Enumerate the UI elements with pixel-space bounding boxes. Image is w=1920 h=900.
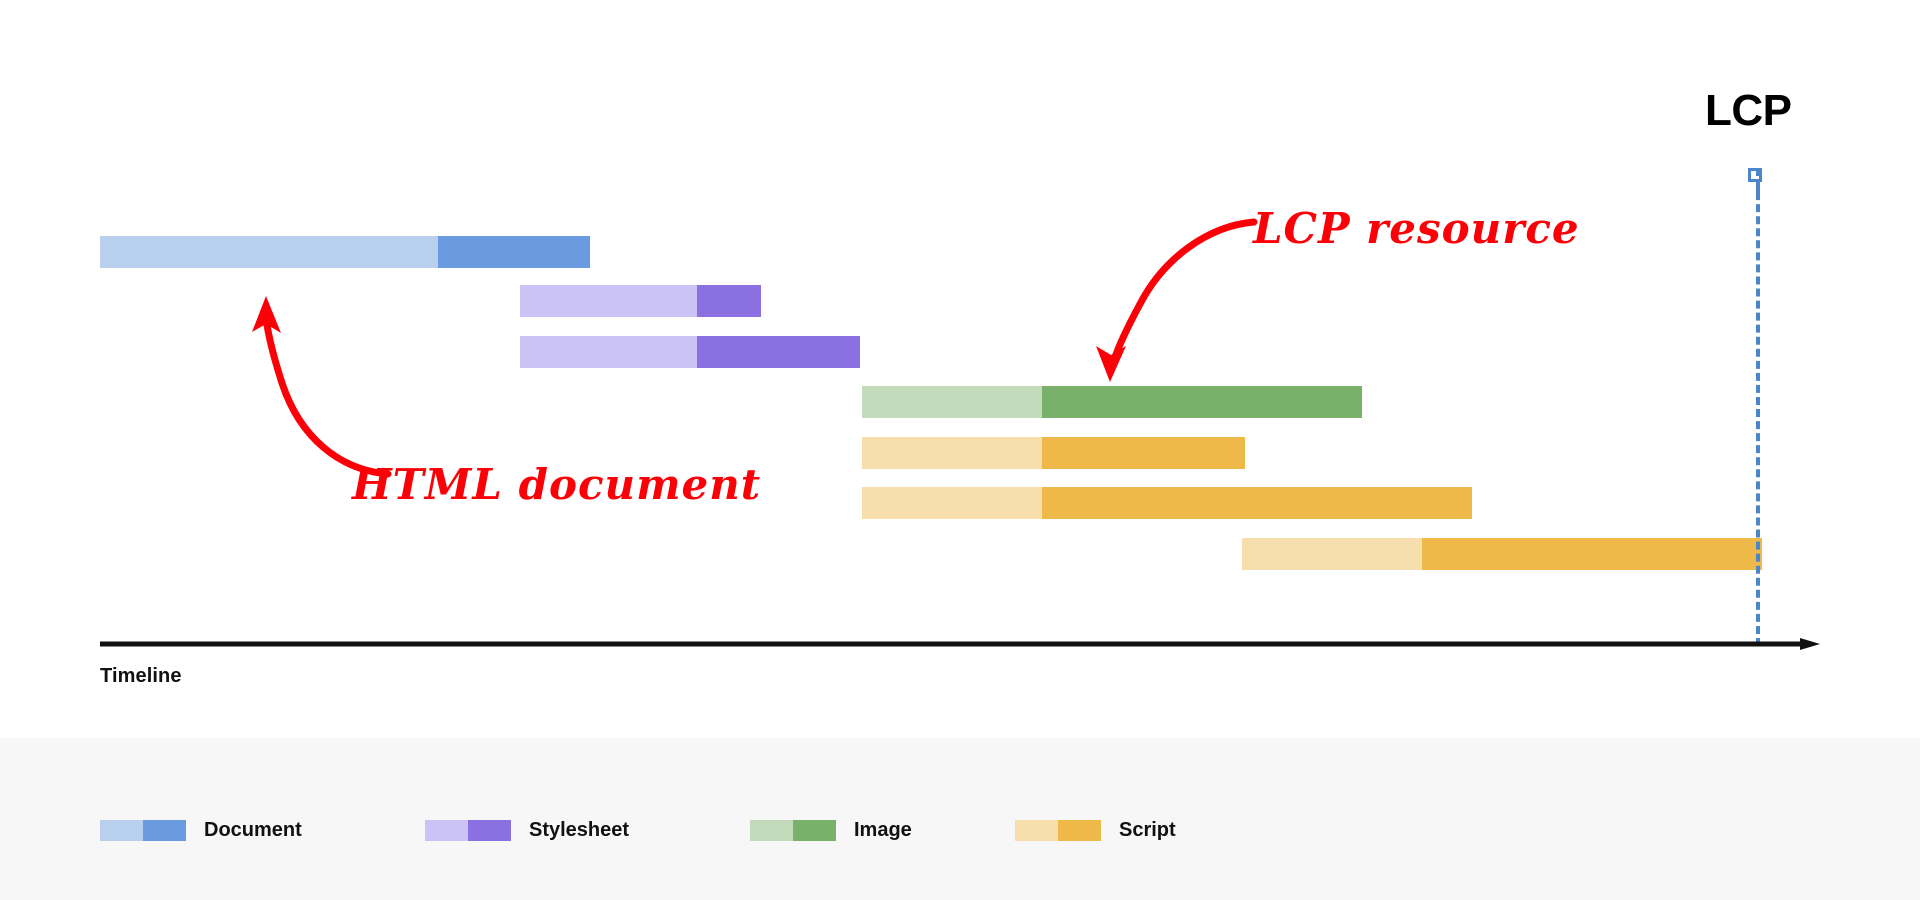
timeline-axis: [100, 638, 1820, 650]
legend-swatch-stylesheet: [425, 820, 511, 841]
stylesheet-bar-2[interactable]: [520, 336, 860, 368]
document-bar[interactable]: [100, 236, 590, 268]
script-bar-1-wait-segment: [862, 437, 1042, 469]
legend-item-stylesheet[interactable]: Stylesheet: [425, 818, 629, 842]
legend-swatch-dark: [793, 820, 836, 841]
image-bar[interactable]: [862, 386, 1362, 418]
legend-item-script[interactable]: Script: [1015, 818, 1176, 842]
legend-label: Script: [1119, 819, 1176, 842]
script-bar-3-wait-segment: [1242, 538, 1422, 570]
legend-swatch-document: [100, 820, 186, 841]
image-bar-load-segment: [1042, 386, 1362, 418]
legend-swatch-light: [100, 820, 143, 841]
legend-swatch-dark: [143, 820, 186, 841]
document-bar-wait-segment: [100, 236, 438, 268]
stylesheet-bar-2-wait-segment: [520, 336, 697, 368]
legend-swatch-light: [750, 820, 793, 841]
script-bar-3[interactable]: [1242, 538, 1762, 570]
stylesheet-bar-1-wait-segment: [520, 285, 697, 317]
stylesheet-bar-1-load-segment: [697, 285, 761, 317]
legend-item-image[interactable]: Image: [750, 818, 912, 842]
legend-swatch-script: [1015, 820, 1101, 841]
legend-label: Document: [204, 819, 302, 842]
script-bar-2-wait-segment: [862, 487, 1042, 519]
chart-area: LCP Timeline HTML document LCP resource: [0, 0, 1920, 738]
script-bar-2[interactable]: [862, 487, 1472, 519]
legend-strip: DocumentStylesheetImageScript: [0, 738, 1920, 900]
stylesheet-bar-1[interactable]: [520, 285, 761, 317]
legend-swatch-light: [1015, 820, 1058, 841]
html-document-annotation-label: HTML document: [352, 460, 761, 509]
legend-swatch-dark: [468, 820, 511, 841]
legend-item-document[interactable]: Document: [100, 818, 302, 842]
document-bar-load-segment: [438, 236, 590, 268]
script-bar-1-load-segment: [1042, 437, 1245, 469]
lcp-resource-annotation-label: LCP resource: [1253, 204, 1580, 253]
html-document-arrow-icon: [190, 288, 390, 478]
image-bar-wait-segment: [862, 386, 1042, 418]
script-bar-2-load-segment: [1042, 487, 1472, 519]
legend-swatch-image: [750, 820, 836, 841]
script-bar-3-load-segment: [1422, 538, 1762, 570]
legend-swatch-light: [425, 820, 468, 841]
legend-label: Image: [854, 819, 912, 842]
legend-label: Stylesheet: [529, 819, 629, 842]
lcp-marker-line: [1756, 168, 1760, 646]
legend-swatch-dark: [1058, 820, 1101, 841]
timeline-axis-label: Timeline: [100, 665, 182, 688]
script-bar-1[interactable]: [862, 437, 1245, 469]
lcp-resource-arrow-icon: [1068, 200, 1268, 386]
waterfall-diagram: LCP Timeline HTML document LCP resource …: [0, 0, 1920, 900]
stylesheet-bar-2-load-segment: [697, 336, 860, 368]
lcp-title: LCP: [1705, 86, 1792, 136]
